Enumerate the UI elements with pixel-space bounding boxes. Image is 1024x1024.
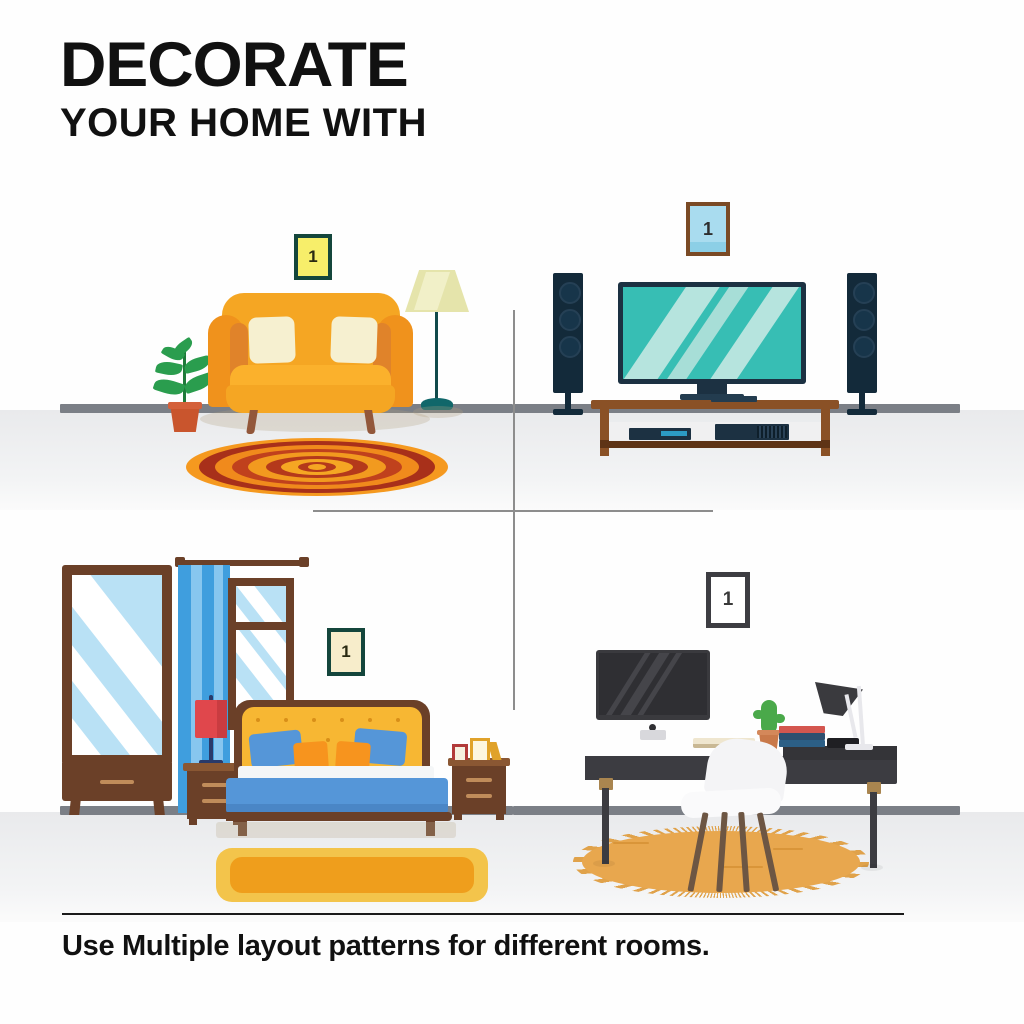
- bedside-rug: [216, 848, 488, 902]
- sofa-base: [226, 385, 395, 413]
- speaker-driver: [853, 282, 875, 304]
- speaker-driver: [853, 309, 875, 331]
- wall-picture-frame[interactable]: 1: [686, 202, 730, 256]
- bed-shadow: [216, 822, 456, 838]
- headboard-tuft: [284, 718, 288, 722]
- frame-mat: 1: [690, 206, 726, 252]
- photo-frames: [452, 738, 510, 760]
- wall-picture-frame[interactable]: 1: [294, 234, 332, 280]
- headboard-tuft: [368, 718, 372, 722]
- lamp-neck: [209, 738, 213, 762]
- monitor-screen: [599, 653, 707, 715]
- console-leg-right: [821, 408, 830, 456]
- page-subtitle: YOUR HOME WITH: [60, 96, 960, 146]
- photo-frame-large-mat: [473, 741, 487, 760]
- drawer-pull: [202, 783, 228, 787]
- mirror-foot-right: [153, 799, 165, 815]
- poster-header: DECORATE YOUR HOME WITH: [60, 34, 960, 146]
- cactus-arm-left: [753, 710, 764, 719]
- mirror-glass: [72, 575, 162, 755]
- frame-number: 1: [703, 219, 713, 240]
- nightstand-foot: [189, 819, 197, 825]
- lamp-arm-lower: [857, 686, 865, 748]
- rug-ring-9: [308, 464, 326, 470]
- tower-speaker-left: [549, 273, 587, 413]
- wall-picture-frame[interactable]: 1: [706, 572, 750, 628]
- chair-seat: [680, 787, 781, 818]
- rug-inner: [230, 857, 474, 893]
- plant-leaf: [153, 376, 186, 399]
- bed[interactable]: [226, 700, 476, 830]
- lamp-shadow: [413, 406, 463, 418]
- window-pane-top: [236, 586, 286, 622]
- speaker-driver: [853, 336, 875, 358]
- monitor[interactable]: [596, 650, 710, 732]
- frame-mat: 1: [711, 577, 745, 623]
- room-bedroom: 1: [0, 510, 513, 915]
- sofa-leg-right: [364, 410, 376, 434]
- lamp-base: [845, 744, 873, 750]
- photo-frame-small-mat: [455, 747, 465, 760]
- tv-console: [591, 400, 839, 456]
- desk-top-right: [783, 758, 897, 784]
- flat-screen-tv[interactable]: [618, 282, 806, 400]
- drawer-pull: [202, 799, 228, 803]
- chair-leg: [738, 812, 750, 892]
- rod-finial-right: [299, 557, 309, 567]
- office-chair[interactable]: [659, 740, 795, 882]
- poster-canvas: DECORATE YOUR HOME WITH 1: [0, 0, 1024, 1024]
- bed-frame: [226, 812, 452, 821]
- frame-number: 1: [723, 589, 734, 611]
- horizontal-divider: [313, 510, 713, 512]
- mirror-foot-left: [69, 799, 81, 815]
- throw-pillow-left: [248, 316, 296, 364]
- console-leg-left: [600, 408, 609, 456]
- frame-mat: 1: [298, 238, 328, 276]
- drawer-pull: [466, 778, 492, 782]
- sofa-leg-left: [246, 410, 258, 434]
- speaker-foot: [847, 409, 877, 415]
- desk-leg-left: [602, 788, 609, 864]
- frame-mat: 1: [331, 632, 361, 672]
- tv-screen: [623, 287, 801, 379]
- frame-number: 1: [341, 642, 350, 662]
- room-living-room: 1: [0, 160, 513, 510]
- lamp-head: [815, 682, 863, 716]
- caption-text: Use Multiple layout patterns for differe…: [62, 930, 962, 963]
- monitor-stand: [640, 730, 666, 740]
- nightstand-body: [452, 766, 506, 814]
- round-rug: [186, 438, 448, 496]
- chair-leg: [757, 812, 780, 891]
- desk-leg-shadow: [861, 864, 883, 871]
- speaker-driver: [559, 309, 581, 331]
- headboard-tuft: [326, 738, 330, 742]
- yellow-sofa[interactable]: [208, 293, 413, 433]
- speaker-driver: [559, 336, 581, 358]
- caption-rule: [62, 913, 904, 915]
- av-receiver-display: [661, 431, 687, 436]
- room-tv-room: 1: [513, 160, 1024, 510]
- throw-pillow-right: [330, 316, 378, 364]
- soundbar: [711, 396, 757, 402]
- plant-pot-rim: [168, 402, 202, 409]
- frame-art-water: [690, 242, 726, 252]
- headboard-tuft: [340, 718, 344, 722]
- headboard-tuft: [256, 718, 260, 722]
- speaker-driver: [559, 282, 581, 304]
- speaker-foot: [553, 409, 583, 415]
- lamp-pole: [435, 312, 438, 404]
- standing-mirror: [62, 565, 172, 815]
- nightstand-foot: [496, 814, 504, 820]
- tower-speaker-right: [843, 273, 881, 413]
- page-title: DECORATE: [60, 34, 978, 96]
- drawer-pull: [100, 780, 134, 784]
- room-home-office: 1: [513, 510, 1024, 915]
- floor-lamp[interactable]: [405, 270, 469, 420]
- console-shelf: [600, 440, 830, 448]
- desk-leg-right: [870, 792, 877, 868]
- drawer-pull: [466, 794, 492, 798]
- chair-leg: [687, 812, 708, 892]
- nightstand-right[interactable]: [448, 758, 510, 820]
- wall-picture-frame[interactable]: 1: [327, 628, 365, 676]
- frame-number: 1: [308, 247, 317, 267]
- desk-lamp[interactable]: [815, 674, 897, 758]
- nightstand-foot: [454, 814, 462, 820]
- plant-leaf: [155, 359, 183, 377]
- plant-pot-rim: [757, 730, 781, 735]
- headboard-tuft: [312, 718, 316, 722]
- game-console-vents: [757, 426, 787, 438]
- desk-leg-shadow: [593, 860, 615, 867]
- cactus-arm-right: [774, 714, 785, 723]
- chair-leg: [716, 812, 728, 892]
- headboard-tuft: [396, 718, 400, 722]
- plant-leaf: [183, 355, 211, 374]
